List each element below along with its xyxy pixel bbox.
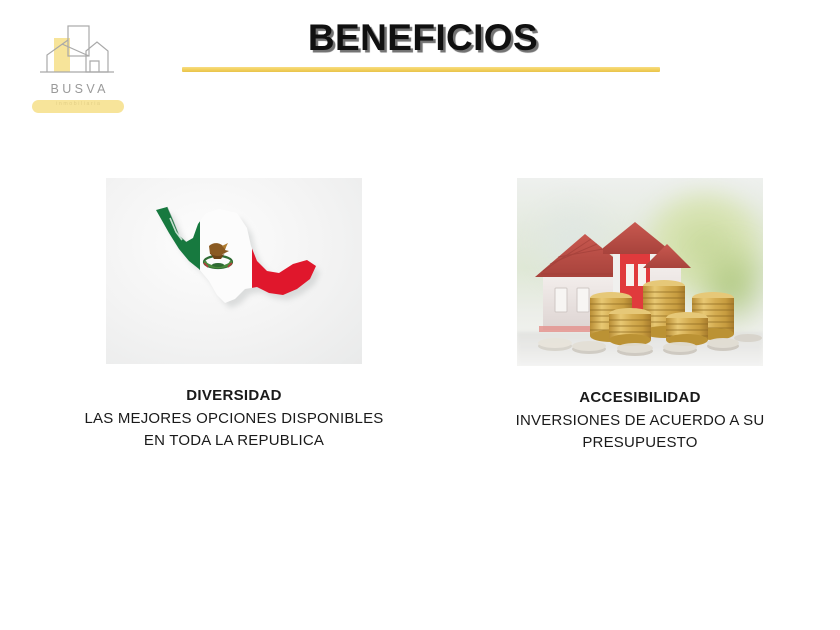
house-and-coins-illustration	[517, 178, 763, 366]
benefit-heading: DIVERSIDAD	[14, 386, 454, 406]
title-underline-rule	[182, 67, 660, 72]
benefit-heading: ACCESIBILIDAD	[452, 388, 828, 408]
benefit-column-diversidad: DIVERSIDAD LAS MEJORES OPCIONES DISPONIB…	[14, 178, 454, 452]
brand-logo: BUSVA inmobiliaria	[28, 22, 128, 118]
benefit-column-accesibilidad: ACCESIBILIDAD INVERSIONES DE ACUERDO A S…	[452, 178, 828, 454]
mexico-flag-map-image	[106, 178, 362, 364]
benefit-description-line: INVERSIONES DE ACUERDO A SU	[452, 410, 828, 432]
benefit-description: INVERSIONES DE ACUERDO A SU PRESUPUESTO	[452, 410, 828, 454]
logo-tagline-band: inmobiliaria	[32, 100, 124, 113]
logo-tagline: inmobiliaria	[32, 101, 124, 107]
benefit-caption-diversidad: DIVERSIDAD LAS MEJORES OPCIONES DISPONIB…	[14, 386, 454, 452]
benefit-description-line: LAS MEJORES OPCIONES DISPONIBLES	[14, 408, 454, 430]
page-title: BENEFICIOS	[180, 17, 666, 59]
house-and-coins-image	[517, 178, 763, 366]
mexico-map-shape	[148, 204, 326, 336]
benefit-description-line: PRESUPUESTO	[452, 432, 828, 454]
benefit-description: LAS MEJORES OPCIONES DISPONIBLES EN TODA…	[14, 408, 454, 452]
building-outline-icon	[28, 22, 128, 84]
logo-wordmark: BUSVA	[28, 82, 128, 96]
benefit-caption-accesibilidad: ACCESIBILIDAD INVERSIONES DE ACUERDO A S…	[452, 388, 828, 454]
benefit-description-line: EN TODA LA REPUBLICA	[14, 430, 454, 452]
